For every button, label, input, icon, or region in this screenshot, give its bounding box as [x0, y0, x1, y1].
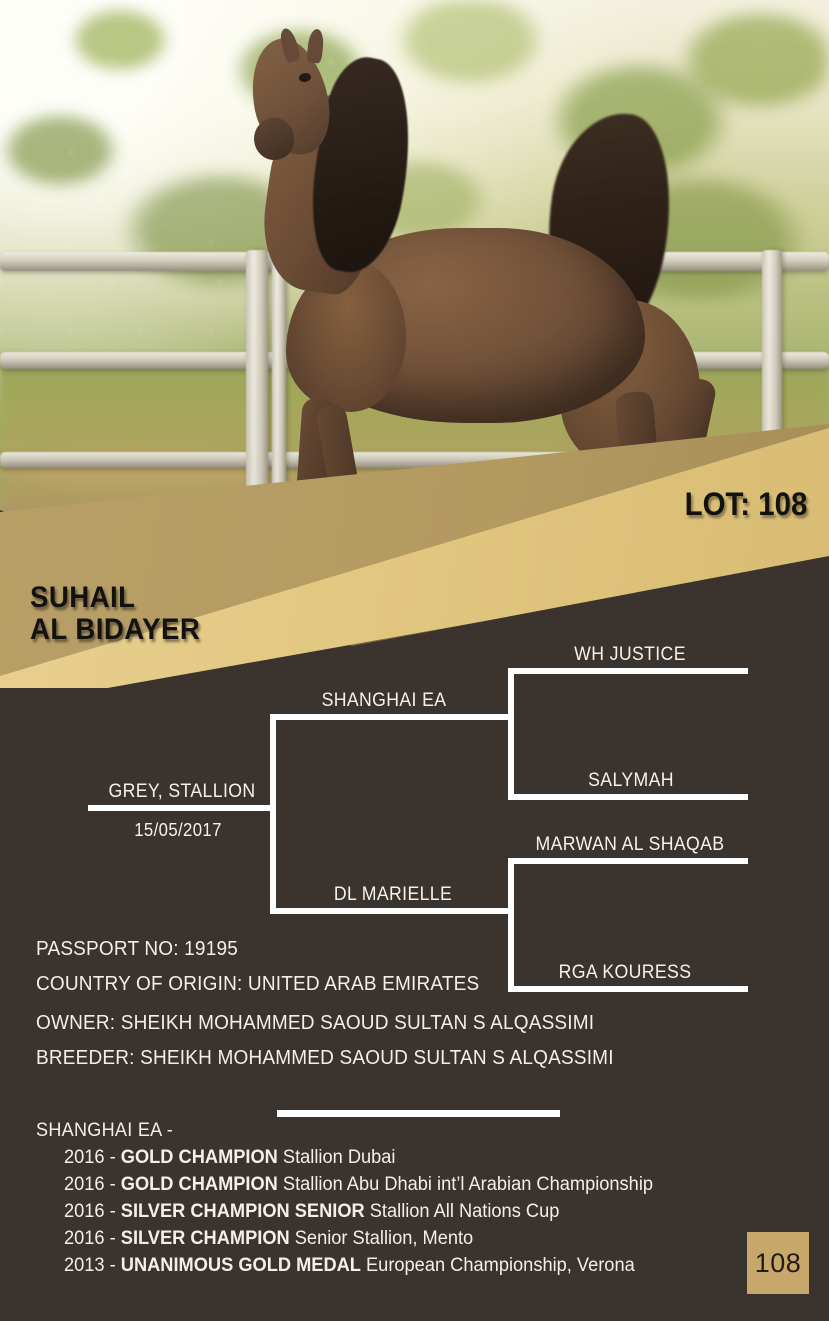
pedigree-line-sire-sire — [508, 668, 748, 674]
pedigree-line-dam-sire — [508, 858, 748, 864]
country-of-origin: COUNTRY OF ORIGIN: UNITED ARAB EMIRATES — [36, 973, 701, 996]
achievement-year: 2013 - — [64, 1255, 121, 1276]
pedigree-line-dam — [270, 908, 514, 914]
lot-catalog-page: arb SUHAIL AL BIDAYER LOT: 108 GREY, STA… — [0, 0, 829, 1321]
owner-name: OWNER: SHEIKH MOHAMMED SAOUD SULTAN S AL… — [36, 1012, 701, 1035]
achievement-year: 2016 - — [64, 1228, 121, 1249]
achievement-award: GOLD CHAMPION — [121, 1174, 278, 1195]
achievement-award: UNANIMOUS GOLD MEDAL — [121, 1255, 361, 1276]
achievement-year: 2016 - — [64, 1174, 121, 1195]
horse-name-line-1: SUHAIL — [30, 582, 334, 614]
section-divider — [277, 1110, 560, 1117]
pedigree-spine-gen1 — [270, 714, 276, 914]
horse-ear-right — [306, 28, 324, 63]
lot-number-label: LOT: 108 — [684, 486, 807, 523]
achievement-description: Stallion All Nations Cup — [365, 1201, 560, 1222]
achievement-year: 2016 - — [64, 1147, 121, 1168]
pedigree-subject-color-sex: GREY, STALLION — [109, 781, 256, 803]
pedigree-sire-sire-name: WH JUSTICE — [574, 644, 686, 666]
achievements-heading: SHANGHAI EA - — [36, 1120, 758, 1142]
achievements-list: SHANGHAI EA - 2016 - GOLD CHAMPION Stall… — [36, 1120, 796, 1280]
achievement-row: 2016 - GOLD CHAMPION Stallion Abu Dhabi … — [64, 1172, 767, 1199]
achievement-description: Senior Stallion, Mento — [290, 1228, 474, 1249]
pedigree-sire-dam-name: SALYMAH — [588, 770, 674, 792]
achievement-row: 2016 - SILVER CHAMPION Senior Stallion, … — [64, 1226, 767, 1253]
pedigree-dam-name: DL MARIELLE — [334, 884, 452, 906]
achievement-award: SILVER CHAMPION SENIOR — [121, 1201, 365, 1222]
achievement-description: Stallion Dubai — [278, 1147, 396, 1168]
achievement-row: 2013 - UNANIMOUS GOLD MEDAL European Cha… — [64, 1253, 767, 1280]
pedigree-subject-dob: 15/05/2017 — [134, 820, 222, 841]
pedigree-line-sire-dam — [508, 794, 748, 800]
pedigree-sire-name: SHANGHAI EA — [322, 690, 447, 712]
pedigree-chart: GREY, STALLION 15/05/2017 SHANGHAI EA DL… — [0, 630, 829, 970]
lot-number-badge: 108 — [747, 1232, 809, 1294]
breeder-name: BREEDER: SHEIKH MOHAMMED SAOUD SULTAN S … — [36, 1047, 701, 1070]
achievement-description: Stallion Abu Dhabi int’l Arabian Champio… — [278, 1174, 653, 1195]
achievement-row: 2016 - GOLD CHAMPION Stallion Dubai — [64, 1145, 767, 1172]
passport-number: PASSPORT NO: 19195 — [36, 938, 701, 961]
achievement-award: GOLD CHAMPION — [121, 1147, 278, 1168]
pedigree-dam-sire-name: MARWAN AL SHAQAB — [536, 834, 725, 856]
pedigree-root-line — [88, 805, 276, 811]
achievement-year: 2016 - — [64, 1201, 121, 1222]
pedigree-line-sire — [270, 714, 514, 720]
achievement-description: European Championship, Verona — [361, 1255, 635, 1276]
horse-details: PASSPORT NO: 19195 COUNTRY OF ORIGIN: UN… — [36, 938, 736, 1070]
achievement-row: 2016 - SILVER CHAMPION SENIOR Stallion A… — [64, 1199, 767, 1226]
achievements-rows: 2016 - GOLD CHAMPION Stallion Dubai2016 … — [36, 1145, 796, 1280]
pedigree-spine-sire-parents — [508, 668, 514, 800]
achievement-award: SILVER CHAMPION — [121, 1228, 290, 1249]
